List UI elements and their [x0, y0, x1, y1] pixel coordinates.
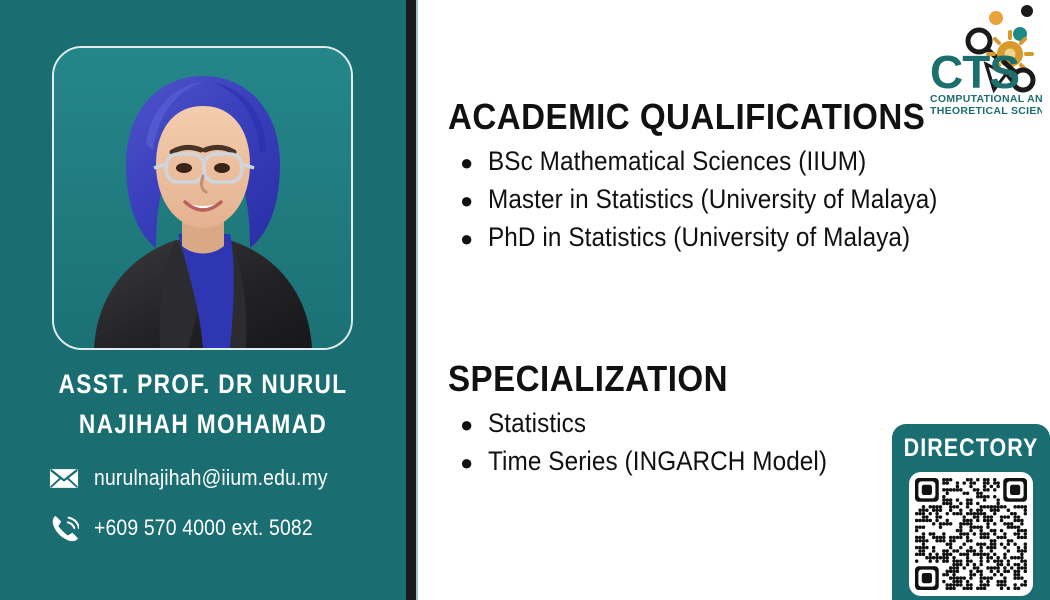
bullet-icon: ●: [448, 182, 488, 220]
qr-code[interactable]: [915, 478, 1027, 590]
phone-text: +609 570 4000 ext. 5082: [94, 515, 313, 541]
orange-dot: [989, 11, 1003, 25]
list-item-label: PhD in Statistics (University of Malaya): [488, 218, 910, 256]
list-item: ● PhD in Statistics (University of Malay…: [448, 218, 987, 256]
list-item-label: BSc Mathematical Sciences (IIUM): [488, 142, 866, 180]
section-academic-qualifications: ACADEMIC QUALIFICATIONS ● BSc Mathematic…: [448, 96, 987, 256]
specialization-heading: SPECIALIZATION: [448, 358, 831, 400]
svg-text:COMPUTATIONAL AND: COMPUTATIONAL AND: [930, 93, 1042, 105]
envelope-icon: [48, 462, 80, 494]
email-text: nurulnajihah@iium.edu.my: [94, 465, 328, 491]
left-panel: ASST. PROF. DR NURUL NAJIHAH MOHAMAD nur…: [0, 0, 406, 600]
cts-tagline: COMPUTATIONAL AND THEORETICAL SCIENCES: [930, 93, 1042, 117]
list-item: ● Time Series (INGARCH Model): [448, 442, 865, 480]
section-specialization: SPECIALIZATION ● Statistics ● Time Serie…: [448, 358, 865, 480]
list-item: ● Master in Statistics (University of Ma…: [448, 180, 987, 218]
academic-list: ● BSc Mathematical Sciences (IIUM) ● Mas…: [448, 142, 987, 256]
list-item-label: Master in Statistics (University of Mala…: [488, 180, 937, 218]
profile-card: ASST. PROF. DR NURUL NAJIHAH MOHAMAD nur…: [0, 0, 1050, 600]
specialization-list: ● Statistics ● Time Series (INGARCH Mode…: [448, 404, 865, 480]
svg-text:THEORETICAL SCIENCES: THEORETICAL SCIENCES: [930, 105, 1042, 117]
list-item: ● BSc Mathematical Sciences (IIUM): [448, 142, 987, 180]
bullet-icon: ●: [448, 444, 488, 482]
bullet-icon: ●: [448, 406, 488, 444]
list-item-label: Time Series (INGARCH Model): [488, 442, 827, 480]
qr-code-card[interactable]: [909, 472, 1033, 596]
profile-photo-frame: [52, 46, 353, 350]
cts-acronym: CTS: [930, 46, 1019, 98]
directory-panel: DIRECTORY: [892, 424, 1050, 600]
panel-divider: [406, 0, 416, 600]
directory-title: DIRECTORY: [903, 434, 1039, 463]
person-name: ASST. PROF. DR NURUL NAJIHAH MOHAMAD: [49, 364, 356, 444]
black-dot: [1021, 5, 1033, 17]
phone-icon: [48, 512, 80, 544]
profile-photo: [54, 48, 351, 348]
list-item: ● Statistics: [448, 404, 865, 442]
bullet-icon: ●: [448, 144, 488, 182]
academic-heading: ACADEMIC QUALIFICATIONS: [448, 96, 944, 138]
bullet-icon: ●: [448, 220, 488, 258]
contact-phone-row[interactable]: +609 570 4000 ext. 5082: [48, 512, 343, 544]
cts-logo-graphic: CTS COMPUTATIONAL AND THEORETICAL SCIENC…: [924, 2, 1042, 120]
cts-logo: CTS COMPUTATIONAL AND THEORETICAL SCIENC…: [924, 2, 1042, 120]
svg-text:CTS: CTS: [930, 46, 1019, 98]
contact-email-row[interactable]: nurulnajihah@iium.edu.my: [48, 462, 360, 494]
list-item-label: Statistics: [488, 404, 586, 442]
